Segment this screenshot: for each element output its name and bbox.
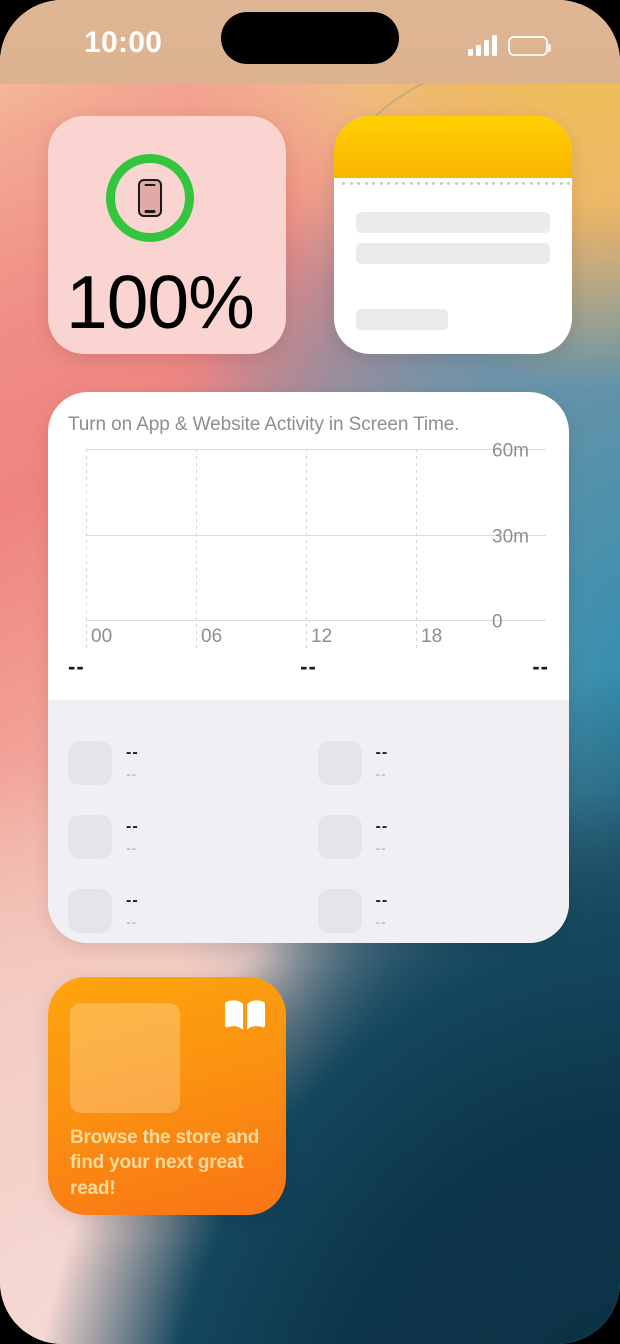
- summary-stat-daily: --: [300, 654, 317, 680]
- battery-ring-icon: [106, 154, 194, 242]
- books-promo-text: Browse the store and find your next grea…: [70, 1125, 270, 1201]
- note-placeholder-line: [356, 309, 448, 330]
- book-open-icon: [224, 999, 266, 1030]
- app-name-label: --: [126, 745, 139, 761]
- y-axis-label-30m: 30m: [492, 528, 529, 547]
- notes-perforation: [334, 178, 572, 188]
- app-icon-placeholder: [318, 889, 362, 933]
- iphone-home-screen: 10:00 100%: [0, 0, 620, 1344]
- app-time-label: --: [126, 915, 139, 929]
- gridline-0: [86, 620, 546, 621]
- status-bar: 10:00: [0, 0, 620, 84]
- screen-time-widget[interactable]: Turn on App & Website Activity in Screen…: [48, 392, 569, 943]
- app-name-label: --: [126, 893, 139, 909]
- note-placeholder-line: [356, 243, 550, 264]
- x-axis-label-18: 18: [416, 627, 442, 646]
- app-list-item[interactable]: -- --: [68, 800, 300, 874]
- gridline-00: [86, 449, 87, 649]
- summary-stat-change: --: [532, 654, 549, 680]
- gridline-18: [416, 449, 417, 649]
- app-name-label: --: [126, 819, 139, 835]
- app-name-label: --: [376, 819, 389, 835]
- app-list-item[interactable]: -- --: [318, 874, 550, 943]
- app-icon-placeholder: [318, 741, 362, 785]
- gridline-30m: [86, 535, 546, 536]
- app-icon-placeholder: [318, 815, 362, 859]
- app-icon-placeholder: [68, 741, 112, 785]
- x-axis-label-12: 12: [306, 627, 332, 646]
- notes-widget[interactable]: [334, 116, 572, 354]
- iphone-icon: [138, 179, 162, 217]
- y-axis-label-0: 0: [492, 613, 503, 632]
- app-name-label: --: [376, 745, 389, 761]
- app-name-label: --: [376, 893, 389, 909]
- status-bar-time: 10:00: [84, 26, 162, 60]
- notes-header-bar: [334, 116, 572, 178]
- book-cover-placeholder: [70, 1003, 180, 1113]
- battery-percent-label: 100%: [66, 265, 254, 340]
- screen-time-app-list: -- -- -- -- -- --: [48, 700, 569, 943]
- gridline-12: [306, 449, 307, 649]
- dynamic-island[interactable]: [221, 12, 399, 64]
- status-bar-indicators: [468, 28, 548, 56]
- app-list-item[interactable]: -- --: [68, 726, 300, 800]
- chart-plot-area: [86, 449, 484, 621]
- y-axis-label-60m: 60m: [492, 442, 529, 461]
- app-time-label: --: [376, 841, 389, 855]
- screen-time-chart: 60m 30m 0 00 06 12 18: [68, 449, 546, 649]
- x-axis-label-00: 00: [86, 627, 112, 646]
- battery-widget[interactable]: 100%: [48, 116, 286, 354]
- app-icon-placeholder: [68, 815, 112, 859]
- gridline-60m: [86, 449, 546, 450]
- screen-time-title: Turn on App & Website Activity in Screen…: [68, 414, 459, 436]
- summary-stat-total: --: [68, 654, 85, 680]
- app-time-label: --: [376, 767, 389, 781]
- cellular-signal-icon: [468, 34, 497, 56]
- gridline-06: [196, 449, 197, 649]
- app-list-item[interactable]: -- --: [68, 874, 300, 943]
- books-widget[interactable]: Browse the store and find your next grea…: [48, 977, 286, 1215]
- app-icon-placeholder: [68, 889, 112, 933]
- x-axis-label-06: 06: [196, 627, 222, 646]
- app-time-label: --: [126, 841, 139, 855]
- note-placeholder-line: [356, 212, 550, 233]
- app-time-label: --: [126, 767, 139, 781]
- app-list-item[interactable]: -- --: [318, 800, 550, 874]
- battery-full-icon: [508, 36, 548, 56]
- app-list-item[interactable]: -- --: [318, 726, 550, 800]
- screen-time-summary: -- -- --: [68, 654, 549, 680]
- app-time-label: --: [376, 915, 389, 929]
